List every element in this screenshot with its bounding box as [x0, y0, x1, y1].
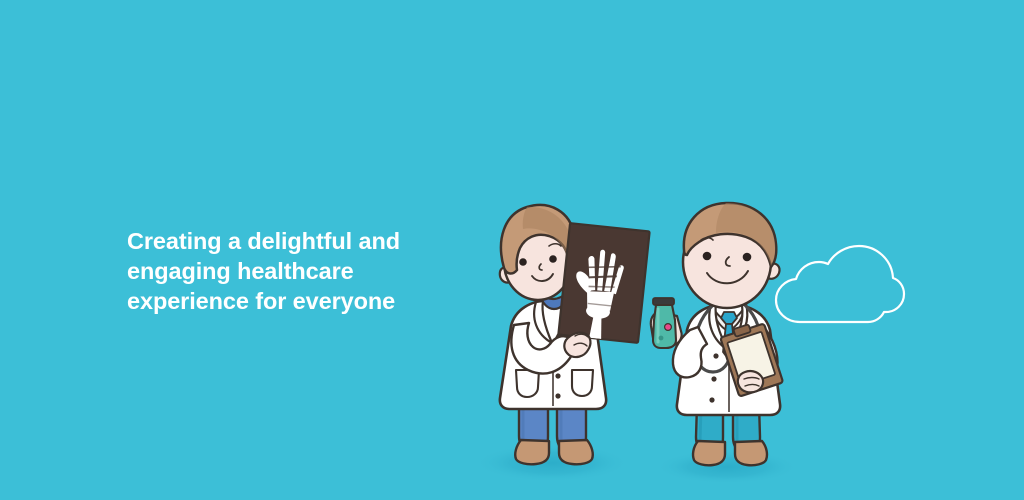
doctor-left-hand-near — [564, 333, 590, 357]
hero-banner: Creating a delightful and engaging healt… — [0, 0, 1024, 500]
cloud-icon — [776, 246, 904, 322]
doctor-right — [651, 203, 783, 465]
medicine-bottle — [653, 298, 676, 348]
ground-shadow-right — [655, 450, 799, 484]
ground-shadow-left — [474, 444, 630, 482]
doctor-right-hand-clipboard — [738, 371, 763, 392]
page-headline: Creating a delightful and engaging healt… — [127, 226, 427, 316]
xray-film — [558, 223, 649, 343]
doctor-left — [500, 205, 650, 464]
doctor-right-head — [683, 203, 780, 308]
